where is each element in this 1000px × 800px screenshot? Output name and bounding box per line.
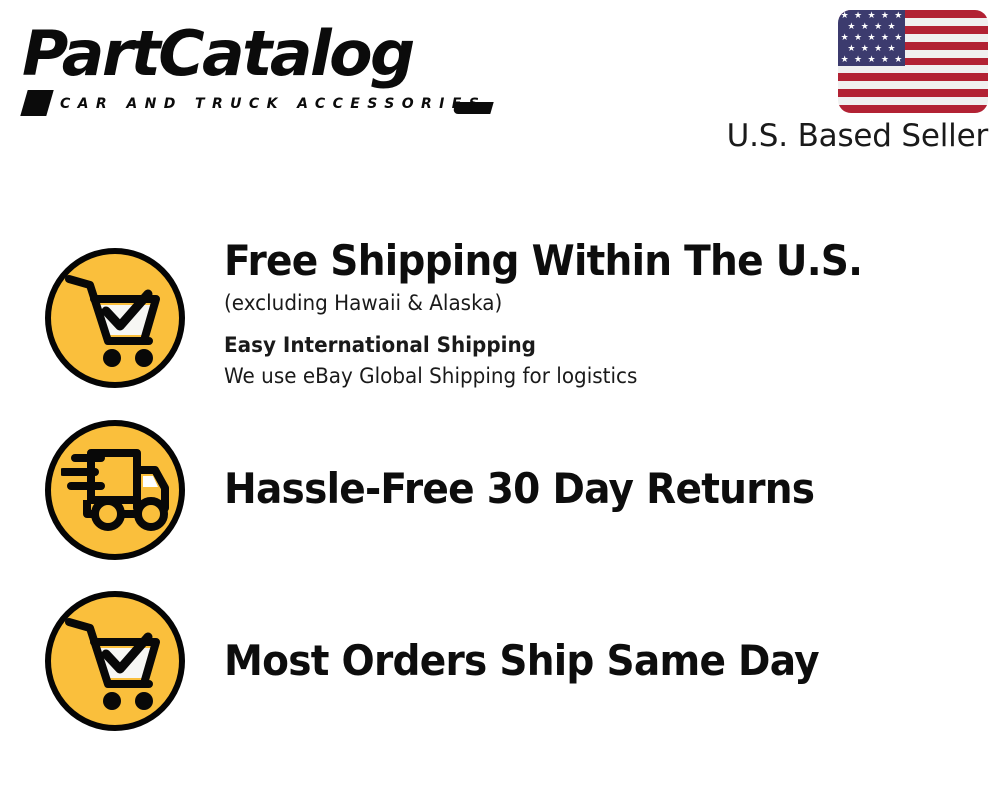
benefit-row-free-shipping: Free Shipping Within The U.S. (excluding… [0, 248, 1000, 398]
shopping-cart-check-icon [45, 591, 185, 731]
flag-star-row: ★ ★ ★ ★ ★ [838, 32, 905, 43]
star-icon: ★ [858, 44, 871, 53]
star-icon: ★ [851, 11, 864, 20]
delivery-truck-icon [45, 420, 185, 560]
benefit-subtext-international-heading: Easy International Shipping [224, 330, 956, 361]
flag-stripe [838, 73, 988, 81]
benefit-row-same-day-ship: Most Orders Ship Same Day [0, 591, 1000, 741]
star-icon: ★ [838, 55, 851, 64]
benefit-text-block: Hassle-Free 30 Day Returns [224, 464, 994, 514]
star-icon: ★ [845, 44, 858, 53]
flag-stripe [838, 89, 988, 97]
flag-star-row: ★ ★ ★ ★ ★ [838, 10, 905, 21]
star-icon: ★ [838, 11, 851, 20]
flag-star-row: ★ ★ ★ ★ [838, 43, 905, 54]
benefit-heading: Most Orders Ship Same Day [224, 636, 940, 686]
star-icon: ★ [871, 22, 884, 31]
brand-wordmark: PartCatalog [22, 18, 413, 90]
benefit-subtext-exclusions: (excluding Hawaii & Alaska) [224, 288, 956, 319]
star-icon: ★ [845, 22, 858, 31]
flag-star-row: ★ ★ ★ ★ ★ [838, 54, 905, 65]
benefit-text-block: Most Orders Ship Same Day [224, 636, 994, 686]
star-icon: ★ [851, 33, 864, 42]
star-icon: ★ [838, 33, 851, 42]
star-icon: ★ [858, 22, 871, 31]
brand-tagline: CAR AND TRUCK ACCESSORIES [60, 96, 486, 112]
star-icon: ★ [865, 55, 878, 64]
star-icon: ★ [885, 22, 898, 31]
star-icon: ★ [892, 11, 905, 20]
flag-star-row: ★ ★ ★ ★ [838, 21, 905, 32]
benefit-heading: Hassle-Free 30 Day Returns [224, 464, 940, 514]
star-icon: ★ [851, 55, 864, 64]
us-based-seller-label: U.S. Based Seller [724, 118, 988, 154]
banner-header: PartCatalog CAR AND TRUCK ACCESSORIES ★ … [0, 0, 1000, 175]
star-icon: ★ [892, 33, 905, 42]
benefit-heading: Free Shipping Within The U.S. [224, 236, 940, 286]
flag-stripe [838, 105, 988, 113]
us-flag-icon: ★ ★ ★ ★ ★ ★ ★ ★ ★ ★ ★ ★ ★ ★ ★ ★ [838, 10, 988, 113]
star-icon: ★ [865, 33, 878, 42]
flag-canton: ★ ★ ★ ★ ★ ★ ★ ★ ★ ★ ★ ★ ★ ★ ★ ★ [838, 10, 905, 66]
star-icon: ★ [885, 44, 898, 53]
star-icon: ★ [878, 11, 891, 20]
shopping-cart-check-icon [45, 248, 185, 388]
brand-logo: PartCatalog CAR AND TRUCK ACCESSORIES [22, 18, 492, 118]
star-icon: ★ [878, 55, 891, 64]
star-icon: ★ [865, 11, 878, 20]
star-icon: ★ [871, 44, 884, 53]
star-icon: ★ [892, 55, 905, 64]
benefit-row-returns: Hassle-Free 30 Day Returns [0, 420, 1000, 570]
star-icon: ★ [878, 33, 891, 42]
benefit-text-block: Free Shipping Within The U.S. (excluding… [224, 236, 994, 392]
logo-accent-left [20, 90, 53, 116]
benefit-subtext-logistics: We use eBay Global Shipping for logistic… [224, 361, 956, 392]
